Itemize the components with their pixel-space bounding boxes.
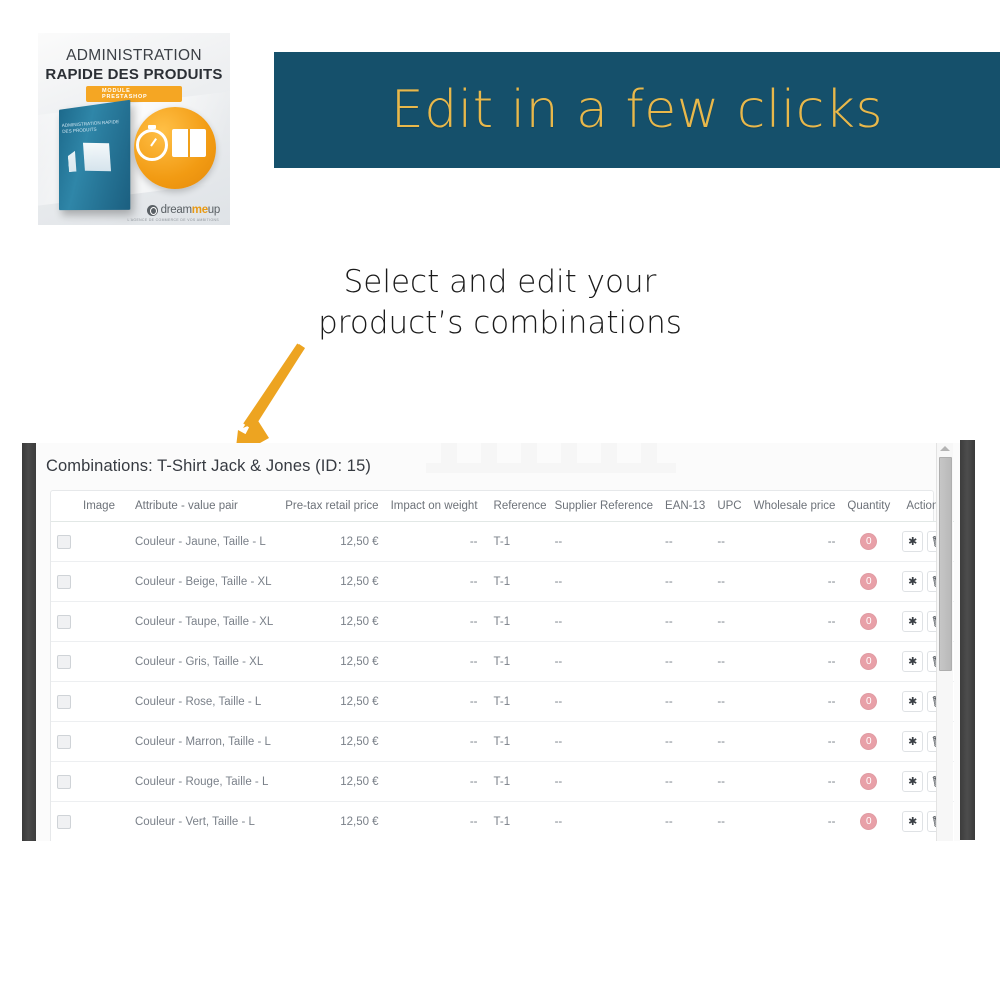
row-wholesale-price: -- bbox=[748, 562, 842, 602]
caption-line-1: Select and edit your bbox=[0, 262, 1000, 303]
row-supplier-reference: -- bbox=[553, 562, 659, 602]
header-impact-weight: Impact on weight bbox=[385, 491, 484, 522]
quantity-badge: 0 bbox=[860, 613, 877, 630]
quantity-badge: 0 bbox=[860, 733, 877, 750]
row-wholesale-price: -- bbox=[748, 522, 842, 562]
set-default-combination-button[interactable]: ✱ bbox=[902, 811, 923, 832]
row-impact-weight: -- bbox=[385, 562, 484, 602]
product-box-image: ADMINISTRATION RAPIDE DES PRODUITS MODUL… bbox=[38, 33, 230, 225]
row-reference: T-1 bbox=[484, 682, 553, 722]
book-icon bbox=[172, 129, 206, 157]
vertical-scrollbar[interactable] bbox=[936, 443, 953, 841]
row-wholesale-price: -- bbox=[748, 802, 842, 842]
header-pretax-price: Pre-tax retail price bbox=[279, 491, 384, 522]
row-reference: T-1 bbox=[484, 562, 553, 602]
row-supplier-reference: -- bbox=[553, 722, 659, 762]
quantity-badge: 0 bbox=[860, 773, 877, 790]
row-quantity-cell: 0 bbox=[841, 802, 896, 842]
row-quantity-cell: 0 bbox=[841, 762, 896, 802]
table-row[interactable]: Couleur - Taupe, Taille - XL12,50 €--T-1… bbox=[51, 602, 954, 642]
row-checkbox[interactable] bbox=[57, 575, 71, 589]
combinations-panel: Combinations: T-Shirt Jack & Jones (ID: … bbox=[36, 443, 960, 841]
row-supplier-reference: -- bbox=[553, 642, 659, 682]
header-ean13: EAN-13 bbox=[659, 491, 711, 522]
header-wholesale-price: Wholesale price bbox=[748, 491, 842, 522]
scrollbar-thumb[interactable] bbox=[939, 457, 952, 671]
row-quantity-cell: 0 bbox=[841, 682, 896, 722]
row-image-cell bbox=[77, 722, 121, 762]
table-row[interactable]: Couleur - Beige, Taille - XL12,50 €--T-1… bbox=[51, 562, 954, 602]
set-default-combination-button[interactable]: ✱ bbox=[902, 611, 923, 632]
header-attribute: Attribute - value pair bbox=[121, 491, 279, 522]
row-checkbox[interactable] bbox=[57, 615, 71, 629]
row-wholesale-price: -- bbox=[748, 762, 842, 802]
row-attribute: Couleur - Rose, Taille - L bbox=[121, 682, 279, 722]
header-supplier-reference: Supplier Reference bbox=[553, 491, 659, 522]
row-impact-weight: -- bbox=[385, 522, 484, 562]
row-reference: T-1 bbox=[484, 762, 553, 802]
table-header-row: Image Attribute - value pair Pre-tax ret… bbox=[51, 491, 954, 522]
row-upc: -- bbox=[711, 602, 747, 642]
row-checkbox[interactable] bbox=[57, 695, 71, 709]
row-wholesale-price: -- bbox=[748, 682, 842, 722]
brand-name: dreammeup bbox=[161, 204, 220, 216]
row-image-cell bbox=[77, 562, 121, 602]
row-ean13: -- bbox=[659, 682, 711, 722]
row-supplier-reference: -- bbox=[553, 602, 659, 642]
row-attribute: Couleur - Marron, Taille - L bbox=[121, 722, 279, 762]
row-ean13: -- bbox=[659, 642, 711, 682]
row-upc: -- bbox=[711, 642, 747, 682]
quantity-badge: 0 bbox=[860, 533, 877, 550]
row-checkbox-cell[interactable] bbox=[51, 722, 77, 762]
row-wholesale-price: -- bbox=[748, 602, 842, 642]
row-checkbox[interactable] bbox=[57, 815, 71, 829]
row-checkbox[interactable] bbox=[57, 535, 71, 549]
table-body: Couleur - Jaune, Taille - L12,50 €--T-1-… bbox=[51, 522, 954, 842]
row-reference: T-1 bbox=[484, 722, 553, 762]
row-ean13: -- bbox=[659, 562, 711, 602]
row-checkbox-cell[interactable] bbox=[51, 602, 77, 642]
box-badge: MODULE PRESTASHOP bbox=[86, 86, 182, 102]
row-ean13: -- bbox=[659, 522, 711, 562]
combinations-table-wrapper: Image Attribute - value pair Pre-tax ret… bbox=[50, 490, 934, 841]
row-reference: T-1 bbox=[484, 642, 553, 682]
scroll-up-arrow-icon[interactable] bbox=[940, 446, 950, 451]
page-title: Combinations: T-Shirt Jack & Jones (ID: … bbox=[46, 457, 371, 476]
set-default-combination-button[interactable]: ✱ bbox=[902, 771, 923, 792]
row-pretax-price: 12,50 € bbox=[279, 562, 384, 602]
row-impact-weight: -- bbox=[385, 682, 484, 722]
table-row[interactable]: Couleur - Vert, Taille - L12,50 €--T-1--… bbox=[51, 802, 954, 842]
row-quantity-cell: 0 bbox=[841, 522, 896, 562]
row-image-cell bbox=[77, 522, 121, 562]
row-upc: -- bbox=[711, 562, 747, 602]
row-wholesale-price: -- bbox=[748, 642, 842, 682]
row-ean13: -- bbox=[659, 602, 711, 642]
caption: Select and edit your product’s combinati… bbox=[0, 262, 1000, 344]
quantity-badge: 0 bbox=[860, 813, 877, 830]
row-quantity-cell: 0 bbox=[841, 642, 896, 682]
row-pretax-price: 12,50 € bbox=[279, 682, 384, 722]
set-default-combination-button[interactable]: ✱ bbox=[902, 531, 923, 552]
box-title-line1: ADMINISTRATION bbox=[38, 47, 230, 65]
row-quantity-cell: 0 bbox=[841, 722, 896, 762]
row-image-cell bbox=[77, 762, 121, 802]
table-row[interactable]: Couleur - Jaune, Taille - L12,50 €--T-1-… bbox=[51, 522, 954, 562]
row-ean13: -- bbox=[659, 722, 711, 762]
row-pretax-price: 12,50 € bbox=[279, 602, 384, 642]
header-reference: Reference bbox=[484, 491, 553, 522]
set-default-combination-button[interactable]: ✱ bbox=[902, 571, 923, 592]
row-upc: -- bbox=[711, 802, 747, 842]
row-upc: -- bbox=[711, 682, 747, 722]
row-pretax-price: 12,50 € bbox=[279, 522, 384, 562]
caption-line-2: product’s combinations bbox=[0, 303, 1000, 344]
row-pretax-price: 12,50 € bbox=[279, 802, 384, 842]
row-upc: -- bbox=[711, 762, 747, 802]
set-default-combination-button[interactable]: ✱ bbox=[902, 731, 923, 752]
brand-mark-icon bbox=[147, 205, 158, 216]
table-header: Image Attribute - value pair Pre-tax ret… bbox=[51, 491, 954, 522]
row-ean13: -- bbox=[659, 762, 711, 802]
table-row[interactable]: Couleur - Marron, Taille - L12,50 €--T-1… bbox=[51, 722, 954, 762]
row-checkbox[interactable] bbox=[57, 775, 71, 789]
row-attribute: Couleur - Gris, Taille - XL bbox=[121, 642, 279, 682]
row-pretax-price: 12,50 € bbox=[279, 762, 384, 802]
row-supplier-reference: -- bbox=[553, 682, 659, 722]
combinations-table: Image Attribute - value pair Pre-tax ret… bbox=[51, 491, 954, 841]
row-attribute: Couleur - Rouge, Taille - L bbox=[121, 762, 279, 802]
row-checkbox-cell[interactable] bbox=[51, 682, 77, 722]
row-attribute: Couleur - Vert, Taille - L bbox=[121, 802, 279, 842]
row-checkbox[interactable] bbox=[57, 735, 71, 749]
brand-tagline: L'AGENCE DE COMMERCE DE VOS AMBITIONS bbox=[127, 218, 219, 222]
row-checkbox-cell[interactable] bbox=[51, 802, 77, 842]
table-row[interactable]: Couleur - Rouge, Taille - L12,50 €--T-1-… bbox=[51, 762, 954, 802]
row-impact-weight: -- bbox=[385, 762, 484, 802]
row-image-cell bbox=[77, 602, 121, 642]
quantity-badge: 0 bbox=[860, 653, 877, 670]
header-quantity: Quantity bbox=[841, 491, 896, 522]
stopwatch-icon bbox=[136, 129, 168, 161]
row-ean13: -- bbox=[659, 802, 711, 842]
banner-title: Edit in a few clicks bbox=[391, 80, 883, 140]
row-attribute: Couleur - Beige, Taille - XL bbox=[121, 562, 279, 602]
row-reference: T-1 bbox=[484, 802, 553, 842]
header-banner: Edit in a few clicks bbox=[274, 52, 1000, 168]
row-impact-weight: -- bbox=[385, 802, 484, 842]
row-checkbox-cell[interactable] bbox=[51, 642, 77, 682]
window-edge-right bbox=[960, 440, 975, 840]
row-pretax-price: 12,50 € bbox=[279, 722, 384, 762]
brand-logo: dreammeup bbox=[147, 204, 220, 216]
row-upc: -- bbox=[711, 522, 747, 562]
row-supplier-reference: -- bbox=[553, 522, 659, 562]
row-supplier-reference: -- bbox=[553, 762, 659, 802]
row-image-cell bbox=[77, 682, 121, 722]
row-reference: T-1 bbox=[484, 522, 553, 562]
row-impact-weight: -- bbox=[385, 602, 484, 642]
row-checkbox[interactable] bbox=[57, 655, 71, 669]
row-image-cell bbox=[77, 802, 121, 842]
row-checkbox-cell[interactable] bbox=[51, 522, 77, 562]
table-row[interactable]: Couleur - Rose, Taille - L12,50 €--T-1--… bbox=[51, 682, 954, 722]
quantity-badge: 0 bbox=[860, 693, 877, 710]
row-quantity-cell: 0 bbox=[841, 562, 896, 602]
set-default-combination-button[interactable]: ✱ bbox=[902, 691, 923, 712]
quantity-badge: 0 bbox=[860, 573, 877, 590]
row-attribute: Couleur - Jaune, Taille - L bbox=[121, 522, 279, 562]
header-image: Image bbox=[77, 491, 121, 522]
row-pretax-price: 12,50 € bbox=[279, 642, 384, 682]
package-icon-page bbox=[83, 143, 111, 171]
row-supplier-reference: -- bbox=[553, 802, 659, 842]
row-image-cell bbox=[77, 642, 121, 682]
row-attribute: Couleur - Taupe, Taille - XL bbox=[121, 602, 279, 642]
box-title-line2: RAPIDE DES PRODUITS bbox=[38, 66, 230, 83]
row-reference: T-1 bbox=[484, 602, 553, 642]
set-default-combination-button[interactable]: ✱ bbox=[902, 651, 923, 672]
row-upc: -- bbox=[711, 722, 747, 762]
row-wholesale-price: -- bbox=[748, 722, 842, 762]
table-row[interactable]: Couleur - Gris, Taille - XL12,50 €--T-1-… bbox=[51, 642, 954, 682]
row-impact-weight: -- bbox=[385, 642, 484, 682]
row-checkbox-cell[interactable] bbox=[51, 562, 77, 602]
row-impact-weight: -- bbox=[385, 722, 484, 762]
header-select-all[interactable] bbox=[51, 491, 77, 522]
row-checkbox-cell[interactable] bbox=[51, 762, 77, 802]
row-quantity-cell: 0 bbox=[841, 602, 896, 642]
window-edge-left bbox=[22, 443, 36, 841]
header-upc: UPC bbox=[711, 491, 747, 522]
